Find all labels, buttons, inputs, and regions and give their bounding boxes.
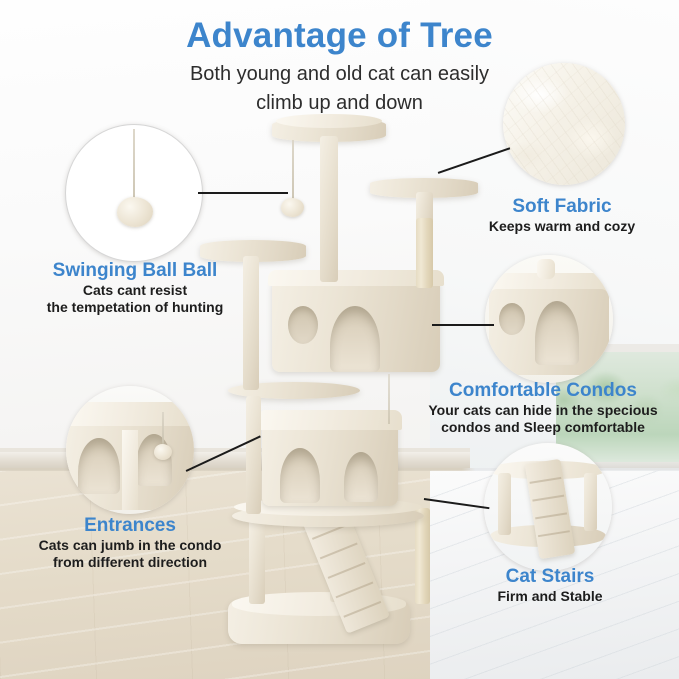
post-bottom-sisal-right bbox=[415, 508, 430, 604]
callout-sub-soft-fabric-line1: Keeps warm and cozy bbox=[452, 218, 672, 235]
condo-lower-entrance-right bbox=[344, 452, 378, 502]
bubble-stairs-post-left bbox=[498, 473, 511, 535]
connector-line-swinging-ball-ball bbox=[198, 192, 288, 194]
callout-title-swinging-ball-ball: Swinging Ball Ball bbox=[20, 260, 250, 282]
toy-string-secondary bbox=[388, 374, 390, 424]
page-title: Advantage of Tree bbox=[0, 16, 679, 56]
post-left-tall bbox=[246, 396, 261, 514]
bubble-entrances-corner-post bbox=[122, 430, 138, 510]
callout-sub-comfortable-condos-line2: condos and Sleep comfortable bbox=[418, 419, 668, 436]
bubble-ball bbox=[117, 197, 153, 227]
bubble-stairs-post-right bbox=[584, 473, 597, 531]
callout-entrances: Entrances Cats can jumb in the condo fro… bbox=[10, 515, 250, 571]
callout-title-cat-stairs: Cat Stairs bbox=[440, 566, 660, 588]
callout-sub-entrances-line1: Cats can jumb in the condo bbox=[10, 537, 250, 554]
callout-comfortable-condos: Comfortable Condos Your cats can hide in… bbox=[418, 380, 668, 436]
bubble-ball-string bbox=[133, 129, 135, 203]
condo-lower-entrance-left bbox=[280, 448, 320, 503]
callout-swinging-ball-ball: Swinging Ball Ball Cats cant resist the … bbox=[20, 260, 250, 316]
bubble-entrances bbox=[66, 386, 194, 514]
callout-sub-entrances-line2: from different direction bbox=[10, 554, 250, 571]
callout-sub-swinging-ball-ball-line1: Cats cant resist bbox=[20, 282, 250, 299]
bubble-cat-stairs bbox=[484, 443, 612, 571]
callout-soft-fabric: Soft Fabric Keeps warm and cozy bbox=[452, 196, 672, 235]
infographic-canvas: Advantage of Tree Both young and old cat… bbox=[0, 0, 679, 679]
post-bottom-left bbox=[249, 520, 265, 604]
callout-cat-stairs: Cat Stairs Firm and Stable bbox=[440, 566, 660, 605]
swinging-ball-toy bbox=[281, 198, 304, 217]
callout-sub-comfortable-condos-line1: Your cats can hide in the specious bbox=[418, 402, 668, 419]
callout-sub-swinging-ball-ball-line2: the tempetation of hunting bbox=[20, 299, 250, 316]
connector-line-comfortable-condos bbox=[432, 324, 494, 326]
callout-title-entrances: Entrances bbox=[10, 515, 250, 537]
bubble-soft-fabric bbox=[503, 63, 625, 185]
condo-upper-entrance bbox=[330, 306, 380, 372]
bubble-condo-post-stub bbox=[537, 259, 555, 279]
bubble-swinging-ball-ball bbox=[65, 124, 203, 262]
bubble-entrances-string bbox=[162, 412, 164, 448]
bubble-comfortable-condos bbox=[485, 255, 613, 383]
condo-upper-porthole bbox=[288, 306, 318, 344]
callout-title-comfortable-condos: Comfortable Condos bbox=[418, 380, 668, 402]
callout-sub-cat-stairs-line1: Firm and Stable bbox=[440, 588, 660, 605]
bubble-condo-porthole bbox=[499, 303, 525, 335]
toy-string bbox=[292, 140, 294, 202]
condo-lower bbox=[262, 420, 398, 506]
post-top-center bbox=[320, 136, 338, 282]
condo-lower-roof bbox=[258, 410, 402, 430]
callout-title-soft-fabric: Soft Fabric bbox=[452, 196, 672, 218]
post-right-sisal bbox=[416, 218, 433, 288]
condo-upper bbox=[272, 278, 440, 372]
bubble-entrances-ball bbox=[154, 444, 172, 460]
